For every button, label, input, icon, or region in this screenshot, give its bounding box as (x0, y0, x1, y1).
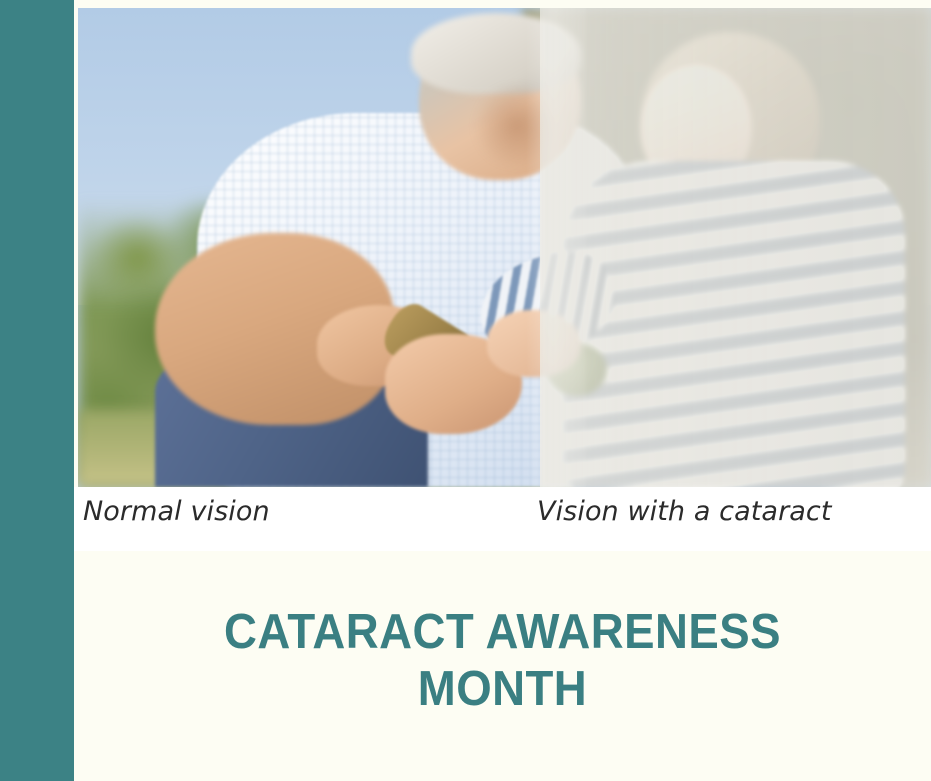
cataract-awareness-poster: Normal vision Vision with a cataract CAT… (0, 0, 931, 781)
photo-captions: Normal vision Vision with a cataract (74, 492, 931, 548)
teal-accent-sidebar (0, 0, 74, 781)
poster-headline: CATARACT AWARENESS MONTH (104, 604, 901, 718)
man-face-shading (470, 85, 564, 166)
vision-comparison-photo (78, 8, 931, 487)
headline-line-2: MONTH (104, 661, 901, 718)
caption-normal-vision: Normal vision (83, 492, 270, 532)
girl-striped-shirt (564, 161, 905, 487)
man-gray-hair (411, 13, 582, 94)
headline-line-1: CATARACT AWARENESS (104, 604, 901, 661)
photo-scene (78, 8, 931, 487)
caption-cataract-vision: Vision with a cataract (537, 492, 832, 532)
girl-hand (487, 310, 581, 377)
